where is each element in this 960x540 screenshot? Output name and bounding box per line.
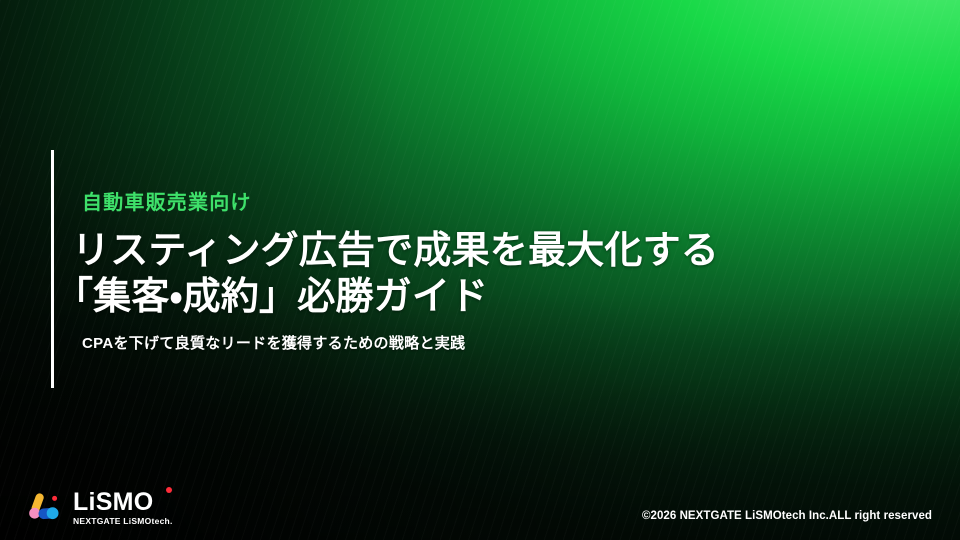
title-line-2: 「集客・成約」必勝ガイド xyxy=(0,274,960,320)
lismo-wordmark-text: LiSMO xyxy=(73,488,153,516)
page-title: リスティング広告で成果を最大化する 「集客・成約」必勝ガイド xyxy=(0,228,960,321)
lismo-tagline: NEXTGATE LiSMOtech. xyxy=(73,517,173,526)
title-slide: 自動車販売業向け リスティング広告で成果を最大化する 「集客・成約」必勝ガイド … xyxy=(0,0,960,540)
lismo-logo-text: LiSMO NEXTGATE LiSMOtech. xyxy=(73,490,173,526)
copyright-notice: ©2026 NEXTGATE LiSMOtech Inc.ALL right r… xyxy=(642,510,932,522)
subtitle: CPAを下げて良質なリードを獲得するための戦略と実践 xyxy=(82,332,465,353)
eyebrow-label: 自動車販売業向け xyxy=(82,186,252,215)
lismo-wordmark: LiSMO xyxy=(73,490,173,515)
lismo-wordmark-dot-icon xyxy=(166,487,172,493)
lismo-logo: LiSMO NEXTGATE LiSMOtech. xyxy=(26,490,173,526)
lismo-logo-mark-icon xyxy=(26,490,64,526)
title-line-1: リスティング広告で成果を最大化する xyxy=(0,228,960,274)
